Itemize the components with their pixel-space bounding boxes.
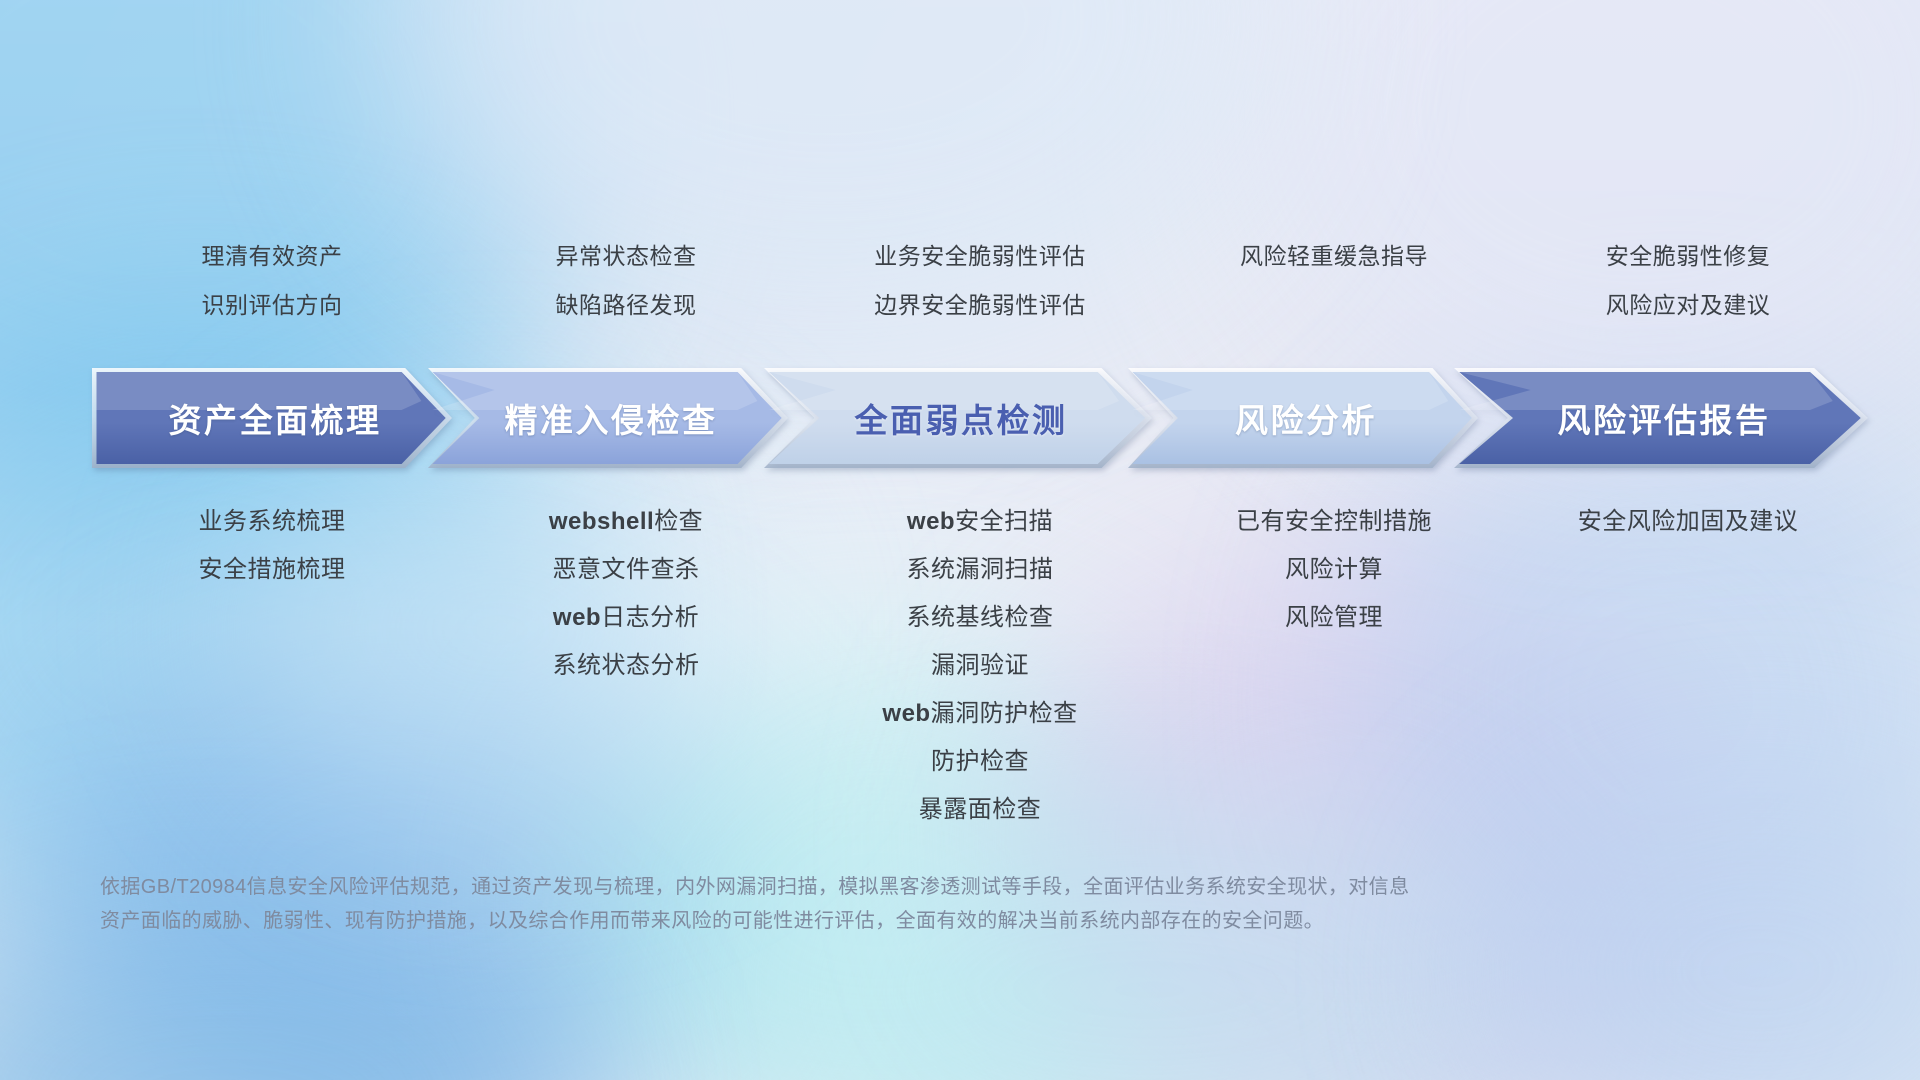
top-note-line: 业务安全脆弱性评估 <box>809 232 1151 281</box>
process-arrow-label: 风险评估报告 <box>1558 394 1771 442</box>
detail-list-item: web日志分析 <box>455 594 797 642</box>
detail-list-item: 安全措施梳理 <box>101 546 443 594</box>
detail-list-column: webshell检查恶意文件查杀web日志分析系统状态分析 <box>449 498 803 834</box>
detail-list-item: web安全扫描 <box>809 498 1151 546</box>
detail-list-item: 安全风险加固及建议 <box>1517 498 1859 546</box>
detail-list-item: 已有安全控制措施 <box>1163 498 1505 546</box>
process-arrow-5[interactable]: 风险评估报告 <box>1454 368 1868 468</box>
top-notes-column: 业务安全脆弱性评估边界安全脆弱性评估 <box>803 232 1157 330</box>
slide-canvas: 理清有效资产识别评估方向异常状态检查缺陷路径发现业务安全脆弱性评估边界安全脆弱性… <box>0 0 1920 1080</box>
detail-list-item: webshell检查 <box>455 498 797 546</box>
detail-list-item: 业务系统梳理 <box>101 498 443 546</box>
latin-token: web <box>882 700 930 727</box>
top-notes-column: 安全脆弱性修复风险应对及建议 <box>1511 232 1865 330</box>
detail-list-item: 防护检查 <box>809 738 1151 786</box>
detail-list-item: 系统漏洞扫描 <box>809 546 1151 594</box>
detail-list-item: 系统基线检查 <box>809 594 1151 642</box>
top-notes-column: 风险轻重缓急指导 <box>1157 232 1511 330</box>
process-arrow-band: 资产全面梳理精准入侵检查全面弱点检测风险分析风险评估报告 <box>92 368 1868 468</box>
top-note-line: 安全脆弱性修复 <box>1517 232 1859 281</box>
latin-token: web <box>553 604 601 631</box>
latin-token: webshell <box>549 508 654 535</box>
detail-list-item: web漏洞防护检查 <box>809 690 1151 738</box>
footer-line-1: 依据GB/T20984信息安全风险评估规范，通过资产发现与梳理，内外网漏洞扫描，… <box>100 870 1820 904</box>
top-note-line: 理清有效资产 <box>101 232 443 281</box>
process-arrow-2[interactable]: 精准入侵检查 <box>428 368 788 468</box>
detail-list-column: 已有安全控制措施风险计算风险管理 <box>1157 498 1511 834</box>
top-note-line: 识别评估方向 <box>101 281 443 330</box>
detail-list-column: web安全扫描系统漏洞扫描系统基线检查漏洞验证web漏洞防护检查防护检查暴露面检… <box>803 498 1157 834</box>
process-arrow-label: 精准入侵检查 <box>505 394 718 442</box>
detail-list-item: 风险计算 <box>1163 546 1505 594</box>
detail-list-item: 恶意文件查杀 <box>455 546 797 594</box>
process-arrow-3[interactable]: 全面弱点检测 <box>764 368 1152 468</box>
detail-list-item: 系统状态分析 <box>455 642 797 690</box>
process-arrow-4[interactable]: 风险分析 <box>1128 368 1478 468</box>
process-arrow-1[interactable]: 资产全面梳理 <box>92 368 452 468</box>
footer-description: 依据GB/T20984信息安全风险评估规范，通过资产发现与梳理，内外网漏洞扫描，… <box>100 870 1820 938</box>
top-notes-column: 理清有效资产识别评估方向 <box>95 232 449 330</box>
process-arrow-label: 全面弱点检测 <box>855 394 1068 442</box>
latin-token: web <box>907 508 955 535</box>
detail-list-item: 暴露面检查 <box>809 786 1151 834</box>
footer-line-2: 资产面临的威胁、脆弱性、现有防护措施，以及综合作用而带来风险的可能性进行评估，全… <box>100 904 1820 938</box>
top-note-line: 风险轻重缓急指导 <box>1163 232 1505 281</box>
top-note-line: 边界安全脆弱性评估 <box>809 281 1151 330</box>
detail-list-column: 业务系统梳理安全措施梳理 <box>95 498 449 834</box>
detail-list-item: 漏洞验证 <box>809 642 1151 690</box>
bottom-lists-row: 业务系统梳理安全措施梳理webshell检查恶意文件查杀web日志分析系统状态分… <box>95 498 1865 834</box>
top-note-line: 风险应对及建议 <box>1517 281 1859 330</box>
top-note-line: 异常状态检查 <box>455 232 797 281</box>
process-arrow-label: 资产全面梳理 <box>169 394 382 442</box>
detail-list-column: 安全风险加固及建议 <box>1511 498 1865 834</box>
detail-list-item: 风险管理 <box>1163 594 1505 642</box>
diagram-content: 理清有效资产识别评估方向异常状态检查缺陷路径发现业务安全脆弱性评估边界安全脆弱性… <box>0 0 1920 1080</box>
process-arrow-label: 风险分析 <box>1235 394 1377 442</box>
top-notes-row: 理清有效资产识别评估方向异常状态检查缺陷路径发现业务安全脆弱性评估边界安全脆弱性… <box>95 232 1865 330</box>
top-note-line: 缺陷路径发现 <box>455 281 797 330</box>
top-notes-column: 异常状态检查缺陷路径发现 <box>449 232 803 330</box>
